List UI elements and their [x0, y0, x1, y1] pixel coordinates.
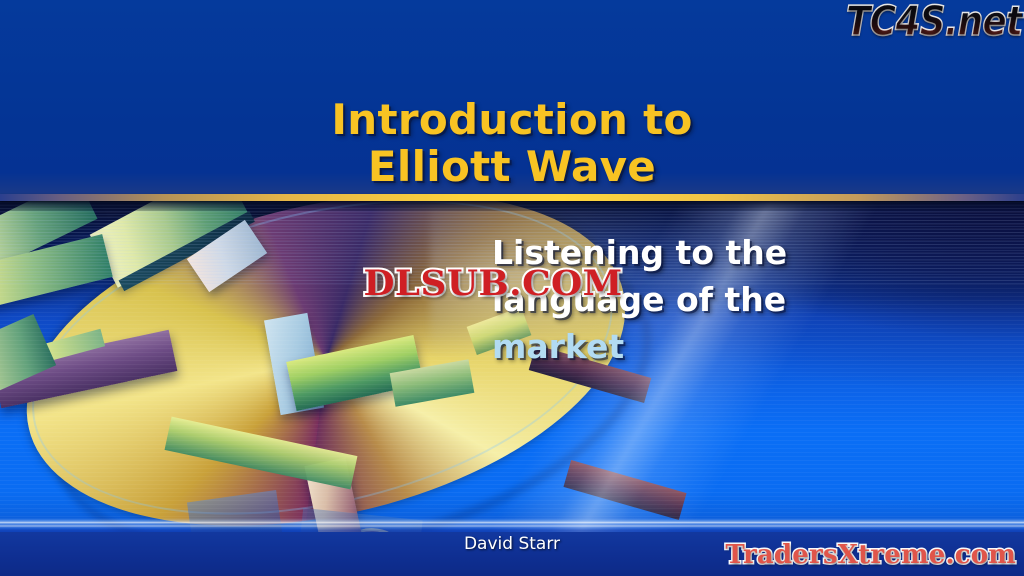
slide-title-line-2: Elliott Wave — [0, 143, 1024, 190]
gold-divider-shadow — [0, 201, 1024, 211]
slide-subtitle-line-3: market — [492, 323, 912, 370]
tc4s-logo[interactable]: TC4S.net — [846, 0, 1022, 45]
slide-title: Introduction to Elliott Wave — [0, 96, 1024, 190]
slide-title-line-1: Introduction to — [0, 96, 1024, 143]
tradersxtreme-logo[interactable]: TradersXtreme.com — [725, 540, 1016, 570]
gold-divider — [0, 194, 1024, 201]
presentation-slide: Introduction to Elliott Wave — [0, 0, 1024, 576]
dlsub-watermark: DLSUB.COM — [363, 263, 622, 304]
